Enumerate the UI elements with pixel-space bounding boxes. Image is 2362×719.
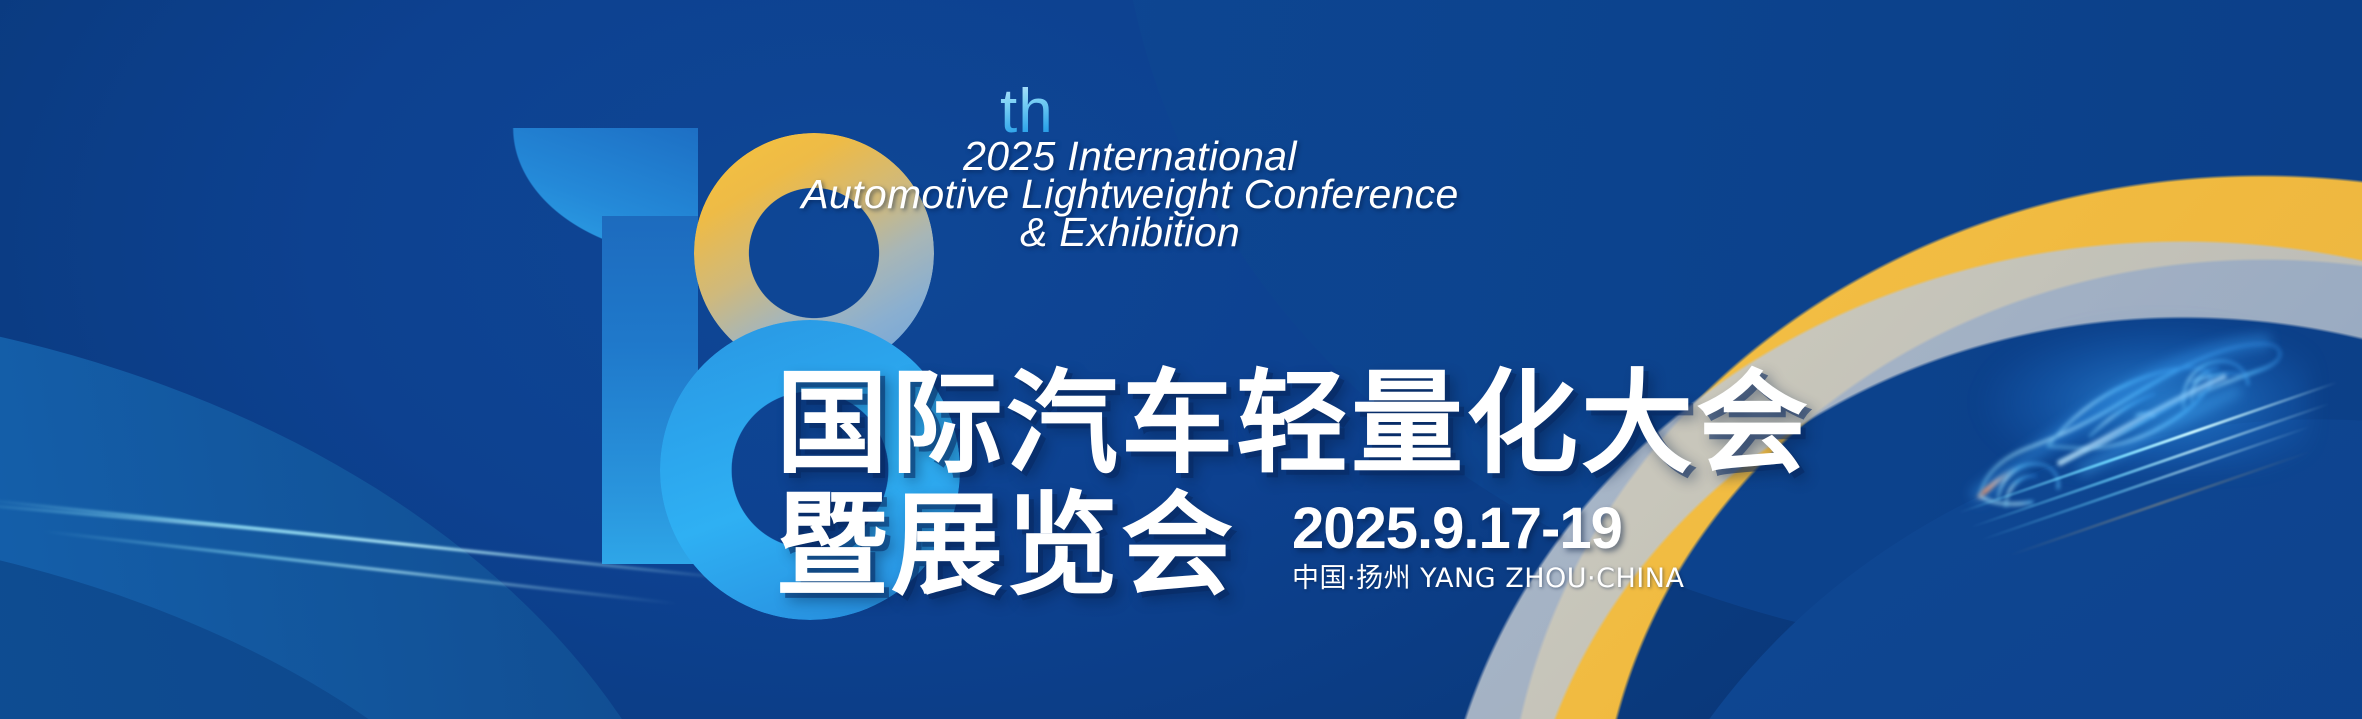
conference-banner: th 2025 International Automotive Lightwe… xyxy=(0,0,2362,719)
event-date: 2025.9.17-19 xyxy=(1292,495,1622,562)
chinese-title-line-2: 暨展览会 xyxy=(776,490,1236,602)
chinese-title-line-1: 国际汽车轻量化大会 xyxy=(776,368,1811,480)
english-title-line-3: & Exhibition xyxy=(790,207,1470,257)
event-location: 中国·扬州 YANG ZHOU·CHINA xyxy=(1292,556,1684,595)
